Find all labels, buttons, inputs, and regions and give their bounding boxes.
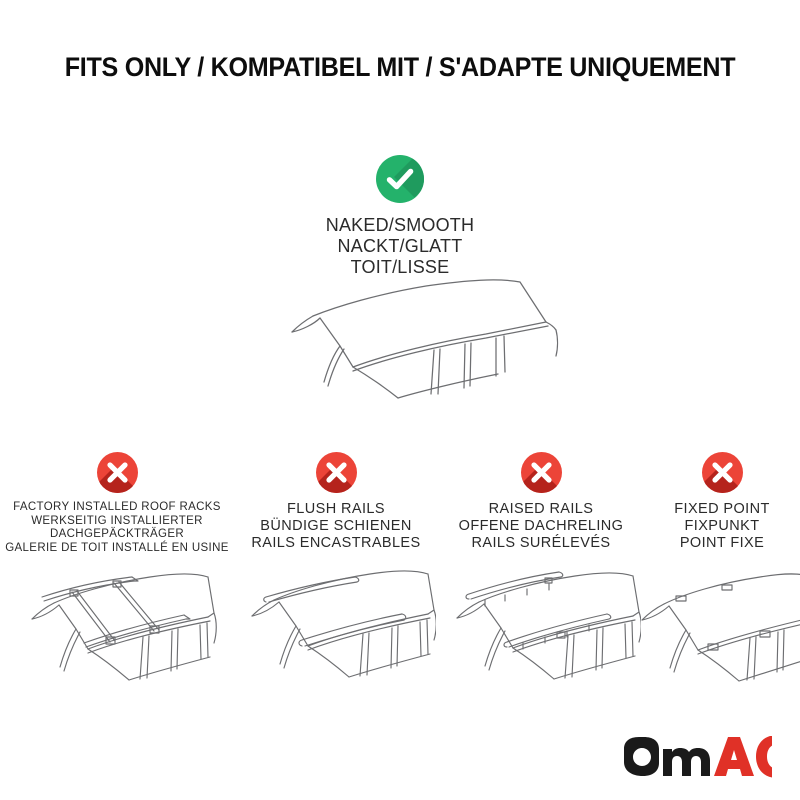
approved-label: NAKED/SMOOTH NACKT/GLATT TOIT/LISSE (326, 215, 474, 278)
rejected-label: FLUSH RAILS BÜNDIGE SCHIENEN RAILS ENCAS… (251, 501, 420, 552)
check-circle-icon (376, 155, 424, 203)
approved-label-line-1: NAKED/SMOOTH (326, 215, 474, 236)
omac-logo (622, 736, 772, 778)
car-roof-factory-installed-roof-racks-illustration (14, 563, 220, 718)
rejected-label-line-2: BÜNDIGE SCHIENEN (251, 518, 420, 535)
x-circle-icon (521, 452, 562, 493)
rejected-item-flush-rails: FLUSH RAILS BÜNDIGE SCHIENEN RAILS ENCAS… (234, 452, 438, 715)
rejected-label-line-3: DACHGEPÄCKTRÄGER (5, 528, 229, 542)
rejected-label-line-3: POINT FIXE (674, 535, 769, 552)
x-circle-icon (702, 452, 743, 493)
page-title: FITS ONLY / KOMPATIBEL MIT / S'ADAPTE UN… (28, 52, 772, 83)
car-roof-flush-rails-illustration (236, 560, 436, 715)
rejected-label: RAISED RAILS OFFENE DACHRELING RAILS SUR… (459, 501, 624, 552)
rejected-label-line-3: RAILS SURÉLEVÉS (459, 535, 624, 552)
rejected-label-line-1: RAISED RAILS (459, 501, 624, 518)
rejected-label-line-4: GALERIE DE TOIT INSTALLÉ EN USINE (5, 542, 229, 556)
rejected-label-line-2: OFFENE DACHRELING (459, 518, 624, 535)
rejected-label-line-1: FLUSH RAILS (251, 501, 420, 518)
rejected-roof-types-row: FACTORY INSTALLED ROOF RACKS WERKSEITIG … (0, 452, 800, 718)
rejected-label: FIXED POINT FIXPUNKT POINT FIXE (674, 501, 769, 552)
logo-letter-c (756, 736, 772, 778)
car-roof-fixed-point-illustration (632, 560, 800, 715)
logo-letter-m (663, 748, 710, 776)
x-circle-icon (97, 452, 138, 493)
logo-letter-a (714, 737, 754, 776)
rejected-item-raised-rails: RAISED RAILS OFFENE DACHRELING RAILS SUR… (438, 452, 644, 715)
rejected-label-line-3: RAILS ENCASTRABLES (251, 535, 420, 552)
car-roof-naked-smooth-illustration (258, 272, 568, 422)
logo-letter-o (624, 737, 659, 776)
approved-label-line-2: NACKT/GLATT (326, 236, 474, 257)
rejected-label-line-2: FIXPUNKT (674, 518, 769, 535)
rejected-label: FACTORY INSTALLED ROOF RACKS WERKSEITIG … (5, 501, 229, 555)
car-roof-raised-rails-illustration (441, 560, 641, 715)
rejected-label-line-1: FIXED POINT (674, 501, 769, 518)
rejected-label-line-2: WERKSEITIG INSTALLIERTER (5, 515, 229, 529)
rejected-label-line-1: FACTORY INSTALLED ROOF RACKS (5, 501, 229, 515)
x-circle-icon (316, 452, 357, 493)
approved-roof-type-block: NAKED/SMOOTH NACKT/GLATT TOIT/LISSE (0, 155, 800, 278)
rejected-item-factory-installed-roof-racks: FACTORY INSTALLED ROOF RACKS WERKSEITIG … (0, 452, 234, 718)
rejected-item-fixed-point: FIXED POINT FIXPUNKT POINT FIXE (644, 452, 800, 715)
